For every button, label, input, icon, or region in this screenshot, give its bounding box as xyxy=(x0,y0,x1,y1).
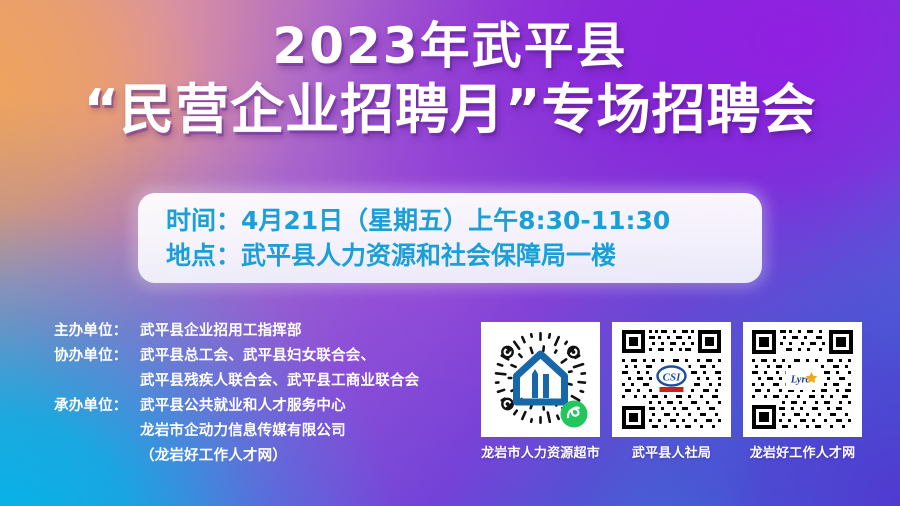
qr-caption: 龙岩好工作人才网 xyxy=(750,442,856,461)
organizer-row: 协办单位： 武平县总工会、武平县妇女联合会、 xyxy=(54,344,419,369)
poster-title: 2023年武平县 “民营企业招聘月”专场招聘会 xyxy=(0,18,900,140)
qr-item-renli-supermarket[interactable]: 龙岩市人力资源超市 xyxy=(481,322,600,461)
qr-caption: 龙岩市人力资源超市 xyxy=(481,442,600,461)
title-line-event-name: “民营企业招聘月”专场招聘会 xyxy=(0,80,900,140)
organizer-row: 承办单位： （龙岩好工作人才网） xyxy=(54,444,419,469)
event-info-panel: 时间：4月21日（星期五）上午8:30-11:30 地点：武平县人力资源和社会保… xyxy=(138,193,762,283)
qr-caption: 武平县人社局 xyxy=(632,442,711,461)
recruitment-poster: 2023年武平县 “民营企业招聘月”专场招聘会 时间：4月21日（星期五）上午8… xyxy=(0,0,900,506)
wechat-mini-program-qr-icon xyxy=(481,322,600,437)
organizer-label: 协办单位： xyxy=(54,344,140,369)
qr-item-lyrc-job-site[interactable]: Lyrc 龙岩好工作人才网 xyxy=(743,322,862,461)
organizer-value: （龙岩好工作人才网） xyxy=(140,444,287,469)
svg-text:CSI: CSI xyxy=(663,372,681,384)
organizer-value: 武平县企业招用工指挥部 xyxy=(140,319,302,344)
event-place-line: 地点：武平县人力资源和社会保障局一楼 xyxy=(166,238,762,274)
organizer-value: 武平县总工会、武平县妇女联合会、 xyxy=(140,344,375,369)
organizer-label: 承办单位： xyxy=(54,394,140,419)
organizer-row: 承办单位： 龙岩市企动力信息传媒有限公司 xyxy=(54,419,419,444)
organizer-value: 龙岩市企动力信息传媒有限公司 xyxy=(140,419,346,444)
organizer-label: 主办单位： xyxy=(54,319,140,344)
organizer-row: 承办单位： 武平县公共就业和人才服务中心 xyxy=(54,394,419,419)
organizer-value: 武平县公共就业和人才服务中心 xyxy=(140,394,346,419)
organizer-value: 武平县残疾人联合会、武平县工商业联合会 xyxy=(140,369,419,394)
organizer-row: 主办单位： 武平县企业招用工指挥部 xyxy=(54,319,419,344)
qr-code-strip: 龙岩市人力资源超市 xyxy=(481,322,862,461)
title-line-year-county: 2023年武平县 xyxy=(0,18,900,74)
organizer-list: 主办单位： 武平县企业招用工指挥部 协办单位： 武平县总工会、武平县妇女联合会、… xyxy=(54,319,419,469)
lyrc-logo-icon: Lyrc xyxy=(786,368,820,390)
standard-qr-icon: CSI xyxy=(612,322,731,437)
qr-code-image-lyrc[interactable]: Lyrc xyxy=(743,322,862,437)
qr-code-image-wuping-hrss[interactable]: CSI xyxy=(612,322,731,437)
organizer-row: 协办单位： 武平县残疾人联合会、武平县工商业联合会 xyxy=(54,369,419,394)
csi-oval-logo-icon: CSI xyxy=(655,364,689,394)
mini-program-badge-icon xyxy=(561,401,588,428)
event-time-line: 时间：4月21日（星期五）上午8:30-11:30 xyxy=(166,203,762,239)
standard-qr-icon: Lyrc xyxy=(743,322,862,437)
qr-item-wuping-hrss[interactable]: CSI 武平县人社局 xyxy=(612,322,731,461)
qr-code-image-wechat-mini-program[interactable] xyxy=(481,322,600,437)
